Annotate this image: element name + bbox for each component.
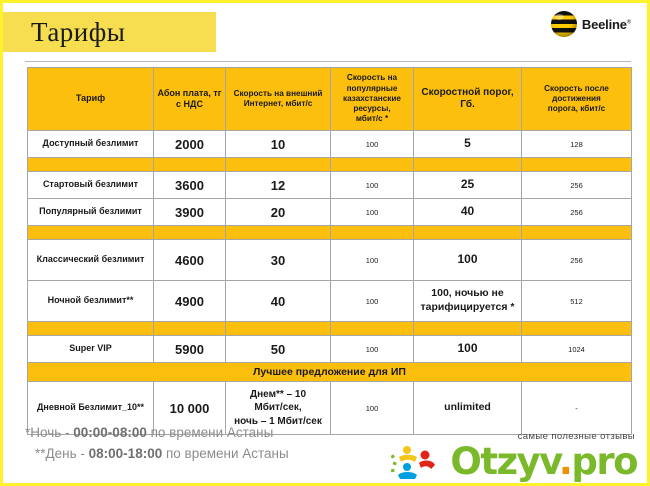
col-header-local-speed-line2: популярные (334, 84, 410, 94)
cell-fee: 2000 (154, 131, 226, 158)
otzyv-wordmark: Otzyv.pro (450, 440, 637, 483)
cell-threshold: 100, ночью не тарифицируется * (414, 281, 522, 322)
footnote-night-time: 00:00-08:00 (73, 425, 147, 440)
spacer-cell (226, 322, 331, 336)
col-header-ext-speed-line2: Интернет, мбит/с (229, 99, 327, 109)
cell-local-speed: 100 (331, 281, 414, 322)
cell-ext-speed: 10 (226, 131, 331, 158)
footnotes: *Ночь - 00:00-08:00 по времени Астаны **… (25, 423, 289, 465)
cell-after-threshold: 128 (522, 131, 632, 158)
col-header-after-line1: Скорость после (525, 84, 628, 94)
cell-after-threshold: 256 (522, 240, 632, 281)
otzyv-watermark: самые полезные отзывы Otzyv.pro (391, 431, 639, 481)
cell-tariff-name: Super VIP (28, 336, 154, 363)
cell-tariff-name: Популярный безлимит (28, 199, 154, 226)
tariffs-page: Тарифы Beeline® Тариф Абон плата, тг с Н… (3, 3, 647, 483)
cell-tariff-name: Доступный безлимит (28, 131, 154, 158)
cell-local-speed: 100 (331, 131, 414, 158)
table-row: Ночной безлимит** 4900 40 100 100, ночью… (28, 281, 632, 322)
col-header-ext-speed: Скорость на внешний Интернет, мбит/с (226, 68, 331, 131)
spacer-cell (28, 322, 154, 336)
cell-local-speed: 100 (331, 240, 414, 281)
footnote-day-label: **День - (35, 446, 89, 461)
table-row: Стартовый безлимит 3600 12 100 25 256 (28, 172, 632, 199)
registered-icon: ® (627, 19, 631, 25)
beeline-label: Beeline (582, 17, 627, 32)
cell-ext-speed: 20 (226, 199, 331, 226)
cell-fee: 4900 (154, 281, 226, 322)
col-header-after-line2: достижения (525, 94, 628, 104)
spacer-cell (414, 322, 522, 336)
footnote-night-label: *Ночь - (25, 425, 73, 440)
cell-after-threshold: 256 (522, 199, 632, 226)
beeline-stripes-icon (551, 11, 577, 37)
col-header-fee: Абон плата, тг с НДС (154, 68, 226, 131)
cell-local-speed: 100 (331, 382, 414, 435)
cell-ext-speed-line2: Мбит/сек, (226, 401, 330, 415)
cell-threshold: 5 (414, 131, 522, 158)
table-spacer-row (28, 226, 632, 240)
col-header-local-speed-line4: мбит/с * (334, 114, 410, 124)
footnote-day-tail: по времени Астаны (162, 446, 289, 461)
footnote-day-time: 08:00-18:00 (89, 446, 163, 461)
cell-threshold: 25 (414, 172, 522, 199)
cell-tariff-name: Классический безлимит (28, 240, 154, 281)
cell-fee: 5900 (154, 336, 226, 363)
otzyv-name-main: Otzyv (450, 440, 558, 483)
cell-ext-speed: 40 (226, 281, 331, 322)
table-header-row: Тариф Абон плата, тг с НДС Скорость на в… (28, 68, 632, 131)
otzyv-people-icon (391, 445, 447, 479)
beeline-wordmark: Beeline® (582, 17, 631, 32)
table-spacer-row (28, 322, 632, 336)
spacer-cell (154, 322, 226, 336)
page-title: Тарифы (31, 17, 125, 48)
cell-after-threshold: 512 (522, 281, 632, 322)
cell-fee: 3900 (154, 199, 226, 226)
col-header-fee-line2: с НДС (157, 99, 222, 110)
tariffs-table: Тариф Абон плата, тг с НДС Скорость на в… (27, 67, 632, 435)
cell-ext-speed: 50 (226, 336, 331, 363)
cell-threshold: 40 (414, 199, 522, 226)
col-header-ext-speed-line1: Скорость на внешний (229, 89, 327, 99)
cell-tariff-name: Ночной безлимит** (28, 281, 154, 322)
table-row: Популярный безлимит 3900 20 100 40 256 (28, 199, 632, 226)
footnote-day: **День - 08:00-18:00 по времени Астаны (25, 444, 289, 465)
spacer-cell (226, 226, 331, 240)
cell-local-speed: 100 (331, 199, 414, 226)
cell-ext-speed: 12 (226, 172, 331, 199)
spacer-cell (522, 322, 632, 336)
col-header-local-speed: Скорость на популярные казахстанские рес… (331, 68, 414, 131)
spacer-cell (331, 322, 414, 336)
col-header-fee-line1: Абон плата, тг (157, 88, 222, 99)
cell-threshold: 100 (414, 336, 522, 363)
table-row: Super VIP 5900 50 100 100 1024 (28, 336, 632, 363)
cell-tariff-name: Стартовый безлимит (28, 172, 154, 199)
col-header-local-speed-line3: казахстанские ресурсы, (334, 94, 410, 115)
footnote-night: *Ночь - 00:00-08:00 по времени Астаны (25, 423, 289, 444)
cell-after-threshold: 256 (522, 172, 632, 199)
cell-threshold: 100 (414, 240, 522, 281)
promo-banner-row: Лучшее предложение для ИП (28, 363, 632, 382)
spacer-cell (28, 158, 154, 172)
cell-after-threshold: - (522, 382, 632, 435)
table-row: Классический безлимит 4600 30 100 100 25… (28, 240, 632, 281)
header-divider (25, 61, 631, 62)
spacer-cell (154, 158, 226, 172)
cell-threshold: unlimited (414, 382, 522, 435)
spacer-cell (522, 226, 632, 240)
col-header-after-line3: порога, кбит/с (525, 104, 628, 114)
cell-fee: 3600 (154, 172, 226, 199)
spacer-cell (226, 158, 331, 172)
cell-ext-speed: 30 (226, 240, 331, 281)
spacer-cell (154, 226, 226, 240)
col-header-after-threshold: Скорость после достижения порога, кбит/с (522, 68, 632, 131)
cell-ext-speed-line1: Днем** – 10 (226, 388, 330, 402)
col-header-threshold: Скоростной порог, Гб. (414, 68, 522, 131)
footnote-night-tail: по времени Астаны (147, 425, 274, 440)
cell-local-speed: 100 (331, 336, 414, 363)
table-spacer-row (28, 158, 632, 172)
spacer-cell (331, 226, 414, 240)
cell-after-threshold: 1024 (522, 336, 632, 363)
spacer-cell (331, 158, 414, 172)
cell-fee: 4600 (154, 240, 226, 281)
otzyv-name-suffix: pro (571, 440, 637, 483)
spacer-cell (414, 158, 522, 172)
col-header-tariff: Тариф (28, 68, 154, 131)
spacer-cell (414, 226, 522, 240)
table-row: Доступный безлимит 2000 10 100 5 128 (28, 131, 632, 158)
otzyv-name-dot: . (559, 440, 572, 483)
beeline-logo: Beeline® (551, 11, 631, 37)
promo-banner-text: Лучшее предложение для ИП (28, 363, 632, 382)
cell-local-speed: 100 (331, 172, 414, 199)
spacer-cell (28, 226, 154, 240)
col-header-local-speed-line1: Скорость на (334, 73, 410, 83)
spacer-cell (522, 158, 632, 172)
